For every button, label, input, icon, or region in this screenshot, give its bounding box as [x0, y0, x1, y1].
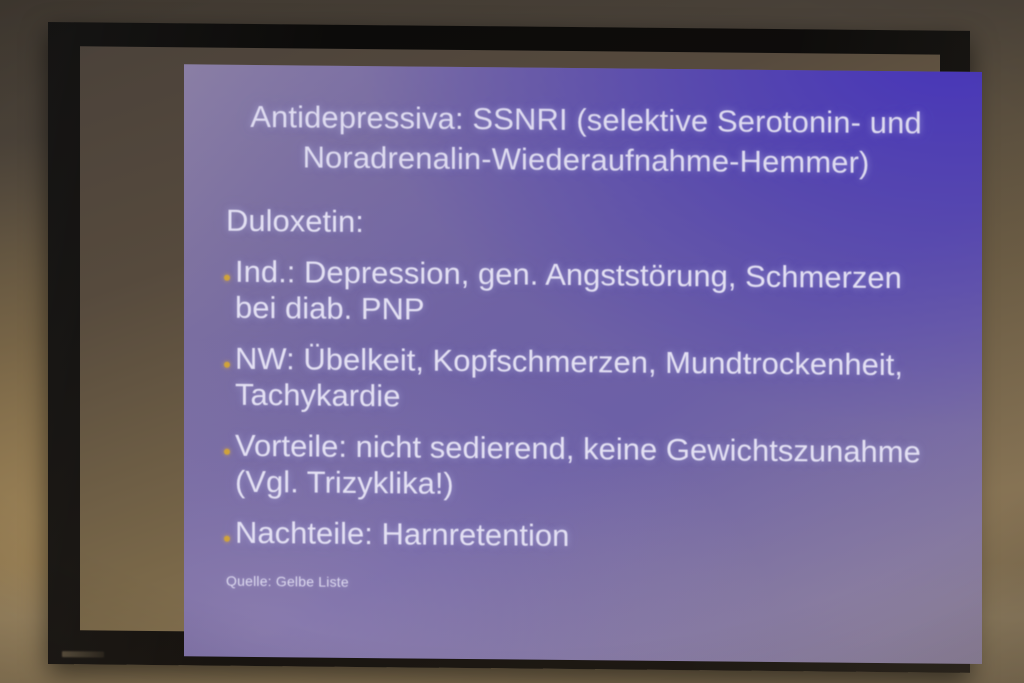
bullet-item-indication: Ind.: Depression, gen. Angststörung, Sch…	[224, 254, 948, 333]
slide-content: Antidepressiva: SSNRI (selektive Seroton…	[184, 64, 982, 664]
slide-body: Duloxetin: Ind.: Depression, gen. Angsts…	[224, 203, 948, 595]
bullet-text: Nachteile: Harnretention	[235, 515, 569, 553]
bullet-text: NW: Übelkeit, Kopfschmerzen, Mundtrocken…	[235, 341, 903, 414]
bullet-item-disadvantages: Nachteile: Harnretention	[224, 515, 948, 558]
bullet-dot-icon	[224, 275, 230, 281]
bullet-dot-icon	[224, 536, 230, 542]
bullet-text: Ind.: Depression, gen. Angststörung, Sch…	[235, 254, 902, 327]
bullet-item-side-effects: NW: Übelkeit, Kopfschmerzen, Mundtrocken…	[224, 341, 948, 420]
bullet-dot-icon	[224, 449, 230, 455]
bullet-item-advantages: Vorteile: nicht sedierend, keine Gewicht…	[224, 428, 948, 507]
bullet-dot-icon	[224, 362, 230, 368]
projected-slide: Antidepressiva: SSNRI (selektive Seroton…	[184, 64, 982, 664]
projection-screen-frame: Antidepressiva: SSNRI (selektive Seroton…	[48, 22, 970, 673]
projection-screen-surface: Antidepressiva: SSNRI (selektive Seroton…	[80, 46, 940, 638]
slide-title: Antidepressiva: SSNRI (selektive Seroton…	[224, 91, 948, 185]
slide-source-note: Quelle: Gelbe Liste	[226, 573, 948, 596]
screen-brand-logo	[62, 651, 104, 657]
screenshot-root: Antidepressiva: SSNRI (selektive Seroton…	[0, 0, 1024, 683]
bullet-text: Vorteile: nicht sedierend, keine Gewicht…	[235, 428, 921, 501]
slide-lead-drug-name: Duloxetin:	[226, 203, 948, 245]
slide-title-line-2: Noradrenalin-Wiederaufnahme-Hemmer)	[230, 137, 942, 184]
slide-title-line-1: Antidepressiva: SSNRI (selektive Seroton…	[230, 97, 942, 144]
